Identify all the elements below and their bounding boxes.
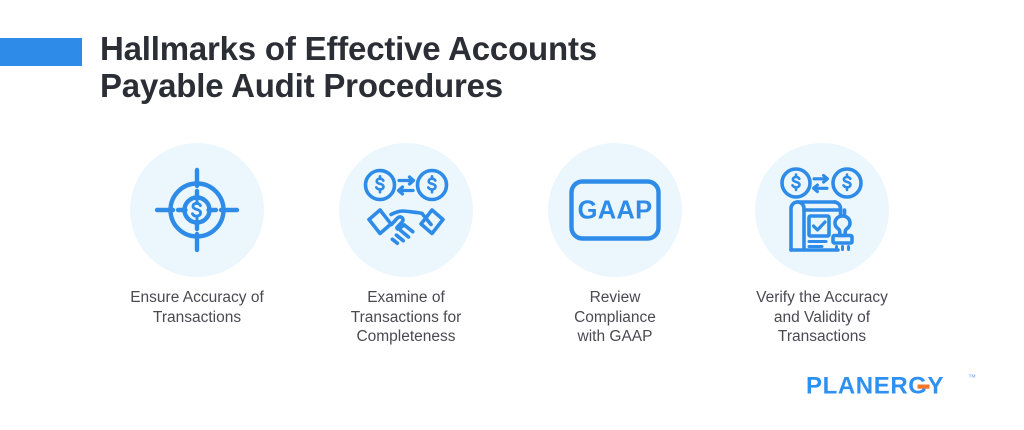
card-caption: Examine of Transactions for Completeness [306,288,506,347]
card-verify-accuracy: Verify the Accuracy and Validity of Tran… [722,140,922,347]
document-stamp-coins-icon [778,167,866,253]
gaap-badge-icon: GAAP [569,179,661,241]
card-ensure-accuracy: Ensure Accuracy of Transactions [97,140,297,327]
handshake-coins-icon [361,168,451,252]
card-examine-transactions: Examine of Transactions for Completeness [306,140,506,347]
target-dollar-icon [154,167,240,253]
icon-circle [130,143,264,277]
icon-circle [339,143,473,277]
page-title-line-1: Hallmarks of Effective Accounts [100,30,900,67]
page-header: Hallmarks of Effective Accounts Payable … [0,30,1024,125]
planergy-g-crossbar [918,385,930,389]
planergy-logo: PLANERGY ™ [806,373,976,401]
icon-circle [755,143,889,277]
gaap-label: GAAP [578,197,653,225]
accent-bar [0,38,82,66]
card-caption: Ensure Accuracy of Transactions [97,288,297,327]
planergy-wordmark: PLANERGY [806,373,966,404]
page-title: Hallmarks of Effective Accounts Payable … [100,30,900,104]
trademark-symbol: ™ [968,374,976,382]
page-title-line-2: Payable Audit Procedures [100,67,900,104]
card-caption: Review Compliance with GAAP [515,288,715,347]
card-row: Ensure Accuracy of Transactions [0,140,1024,355]
icon-circle: GAAP [548,143,682,277]
card-caption: Verify the Accuracy and Validity of Tran… [722,288,922,347]
card-review-compliance: GAAP Review Compliance with GAAP [515,140,715,347]
